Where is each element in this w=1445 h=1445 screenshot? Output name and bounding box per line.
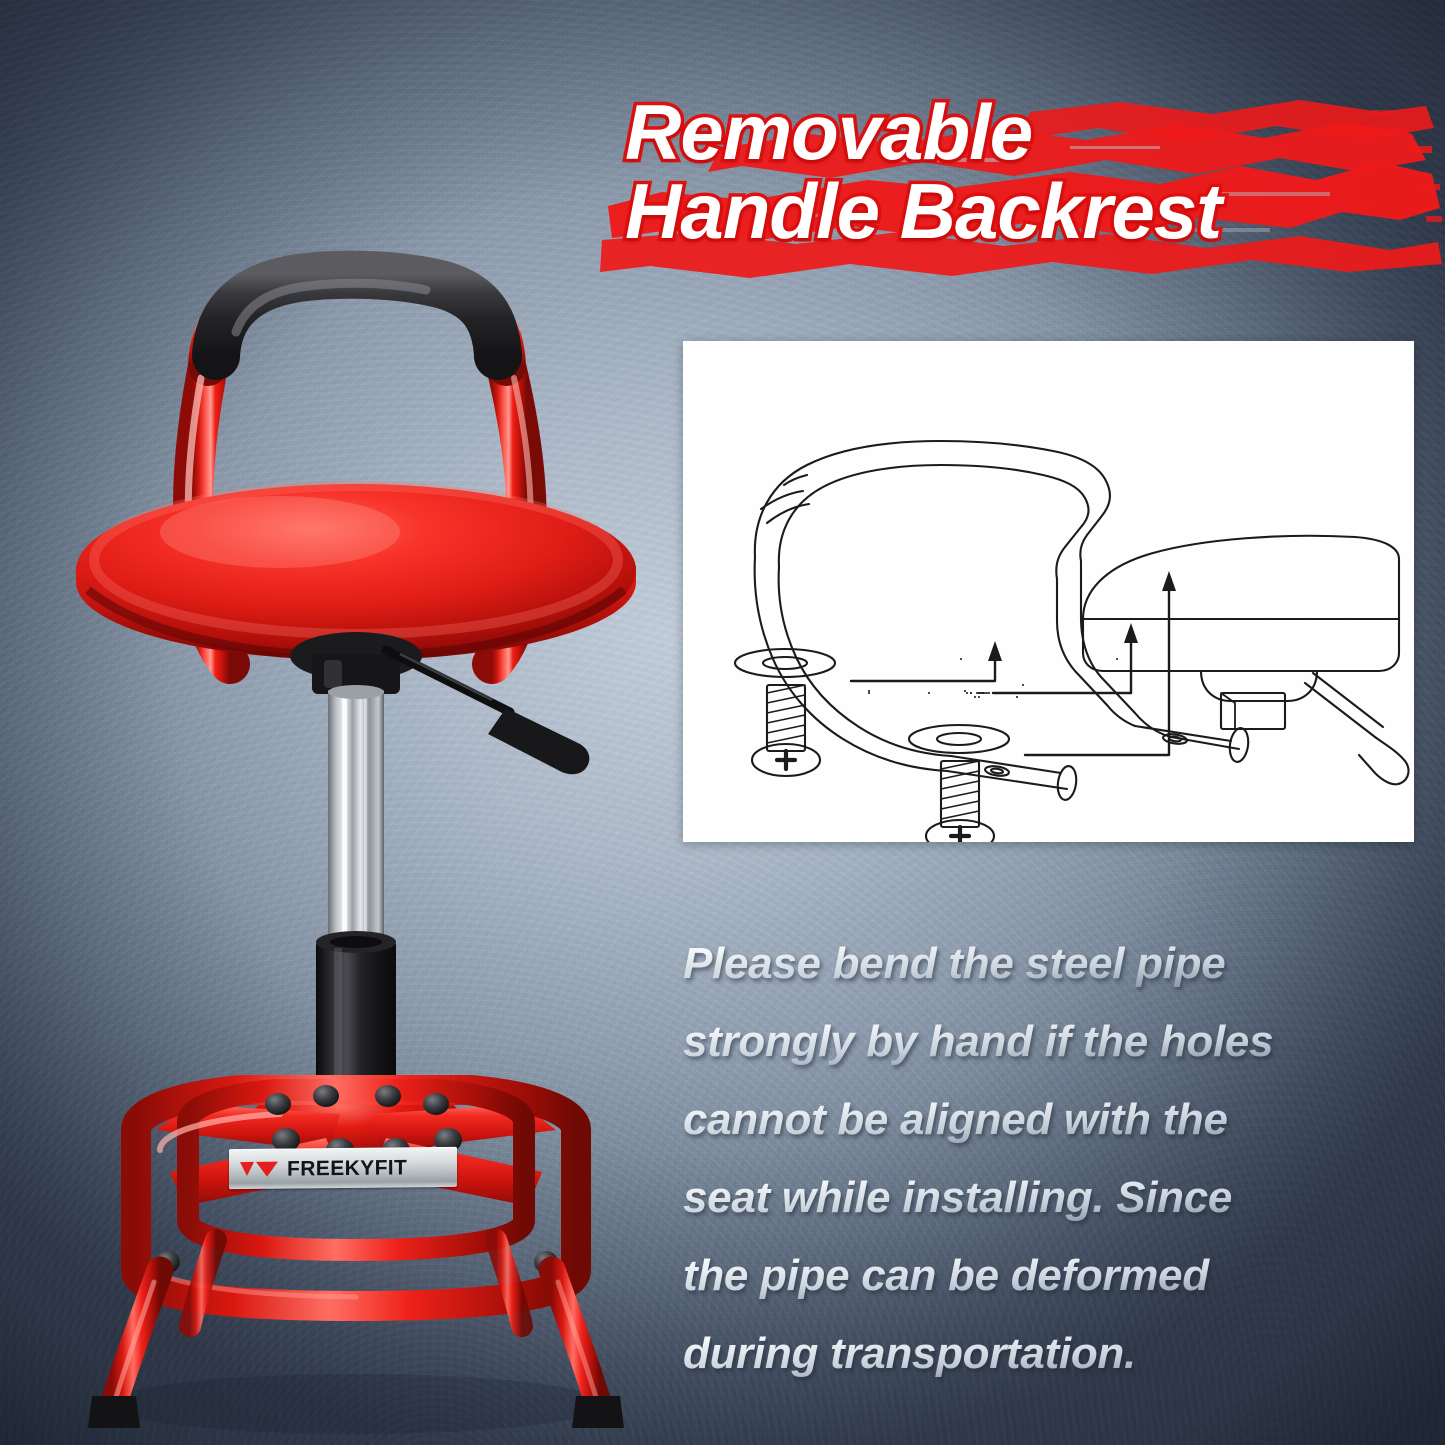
headline-line-2: Handle Backrest	[625, 173, 1445, 250]
chrome-shaft	[328, 685, 384, 952]
brand-name: FREEKYFIT	[287, 1157, 407, 1179]
phillips-screw	[752, 685, 820, 776]
copy-line: the pipe can be deformed	[683, 1237, 1383, 1315]
assembly-arrow	[1025, 571, 1176, 755]
product-photo-stool	[40, 120, 660, 1440]
assembly-diagram	[683, 341, 1414, 842]
seat-highlight	[160, 496, 400, 568]
copy-line: cannot be aligned with the	[683, 1081, 1383, 1159]
brand-badge: FREEKYFIT	[229, 1147, 457, 1189]
headline-text: Removable Handle Backrest	[625, 94, 1445, 250]
copy-line: seat while installing. Since	[683, 1159, 1383, 1237]
assembly-instruction-panel	[683, 341, 1414, 842]
assembly-arrow	[851, 641, 1002, 681]
washer	[735, 649, 835, 677]
headline-block: Removable Handle Backrest	[600, 88, 1445, 278]
copy-line: during transportation.	[683, 1315, 1383, 1393]
stool-illustration	[40, 120, 660, 1440]
copy-line: Please bend the steel pipe	[683, 925, 1383, 1003]
product-marketing-image: Removable Handle Backrest	[0, 0, 1445, 1445]
instruction-text-block: Please bend the steel pipe strongly by h…	[683, 925, 1383, 1393]
freekyfit-logo-icon	[238, 1159, 282, 1179]
ground-shadow	[106, 1374, 606, 1434]
washer	[909, 725, 1009, 753]
copy-line: strongly by hand if the holes	[683, 1003, 1383, 1081]
headline-line-1: Removable	[625, 94, 1445, 171]
